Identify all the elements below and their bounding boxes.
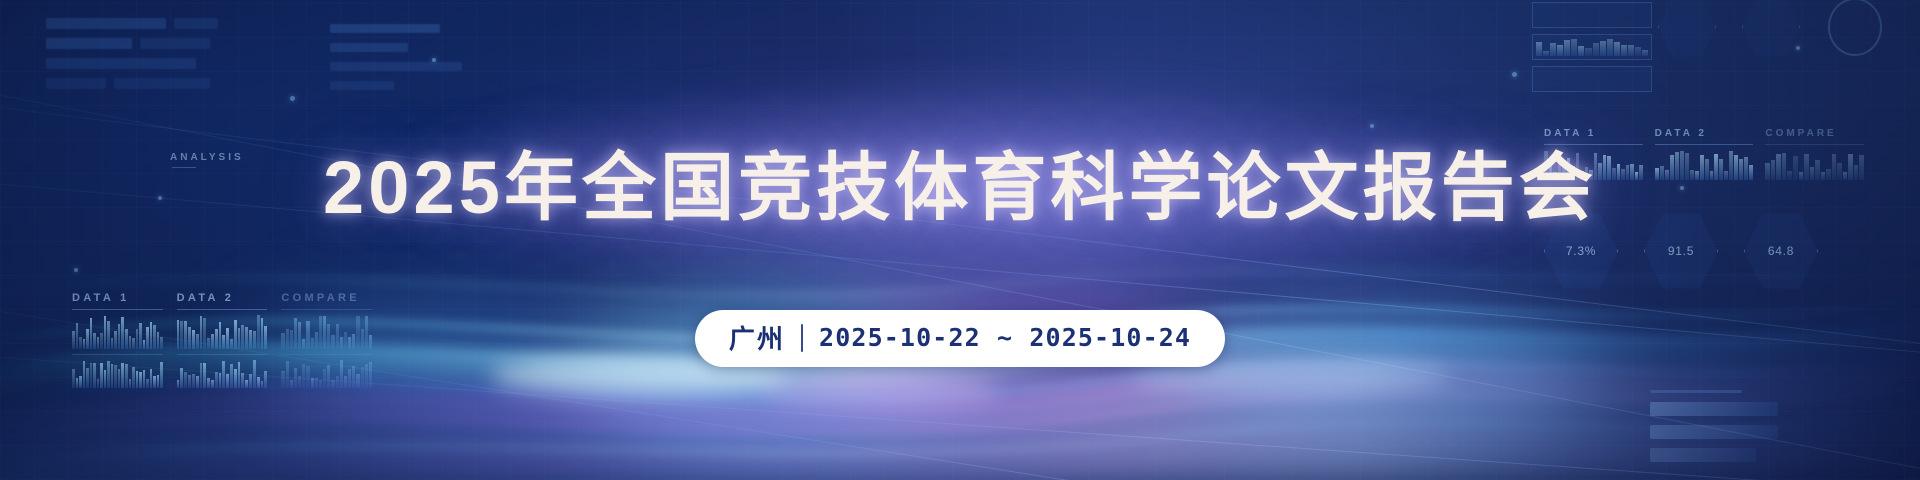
- banner-title: 2025年全国竞技体育科学论文报告会: [323, 151, 1597, 225]
- conference-banner: ANALYSIS DATA 1 DATA 2: [0, 0, 1920, 480]
- pill-separator: [801, 324, 803, 352]
- title-block: 2025年全国竞技体育科学论文报告会: [323, 101, 1597, 274]
- event-city: 广州: [729, 319, 785, 356]
- event-dates: 2025-10-22 ~ 2025-10-24: [819, 323, 1191, 352]
- banner-content: 2025年全国竞技体育科学论文报告会 广州 2025-10-22 ~ 2025-…: [0, 0, 1920, 480]
- event-info-pill: 广州 2025-10-22 ~ 2025-10-24: [695, 310, 1225, 367]
